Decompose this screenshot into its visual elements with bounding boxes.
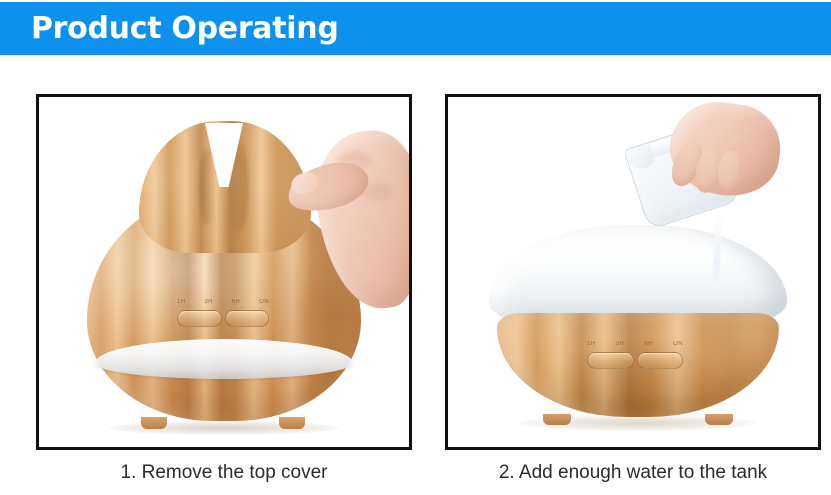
device-foot-right [279, 417, 305, 429]
step-2-photo-frame: 1H 3H 6H ON [445, 94, 821, 450]
mist-button[interactable] [177, 310, 222, 327]
step-2-photo: 1H 3H 6H ON [448, 97, 818, 447]
device-foot-left [543, 414, 571, 425]
button-row [177, 310, 269, 327]
step-1-photo-frame: 1H 3H 6H ON [36, 94, 412, 450]
step-1-photo: 1H 3H 6H ON [39, 97, 409, 447]
button-row [587, 352, 683, 369]
timer-label-1h: 1H [177, 299, 185, 305]
timer-label-row: 1H 3H 6H ON [587, 341, 683, 347]
header-banner: Product Operating [0, 2, 831, 55]
light-button[interactable] [637, 352, 684, 369]
device-foot-right [705, 414, 733, 425]
timer-label-on: ON [673, 341, 683, 347]
control-panel: 1H 3H 6H ON [587, 341, 683, 371]
hand-pouring-water [634, 101, 780, 231]
cover-petal-shade-left [199, 149, 215, 225]
device-foot-left [141, 417, 167, 429]
timer-label-on: ON [259, 299, 269, 305]
light-button[interactable] [225, 310, 270, 327]
page-title: Product Operating [31, 9, 339, 49]
diffuser-water-tank [489, 225, 787, 321]
timer-label-6h: 6H [232, 299, 240, 305]
mist-button[interactable] [587, 352, 634, 369]
step-2-caption: 2. Add enough water to the tank [445, 458, 821, 488]
control-panel: 1H 3H 6H ON [177, 299, 269, 329]
diffuser-light-band [95, 339, 353, 379]
timer-label-row: 1H 3H 6H ON [177, 299, 269, 305]
timer-label-3h: 3H [204, 299, 212, 305]
timer-label-6h: 6H [644, 341, 652, 347]
step-1-caption: 1. Remove the top cover [36, 458, 412, 488]
diffuser-unit-open: 1H 3H 6H ON [483, 225, 793, 425]
timer-label-1h: 1H [587, 341, 595, 347]
hand-removing-cover [285, 121, 409, 331]
timer-label-3h: 3H [616, 341, 624, 347]
